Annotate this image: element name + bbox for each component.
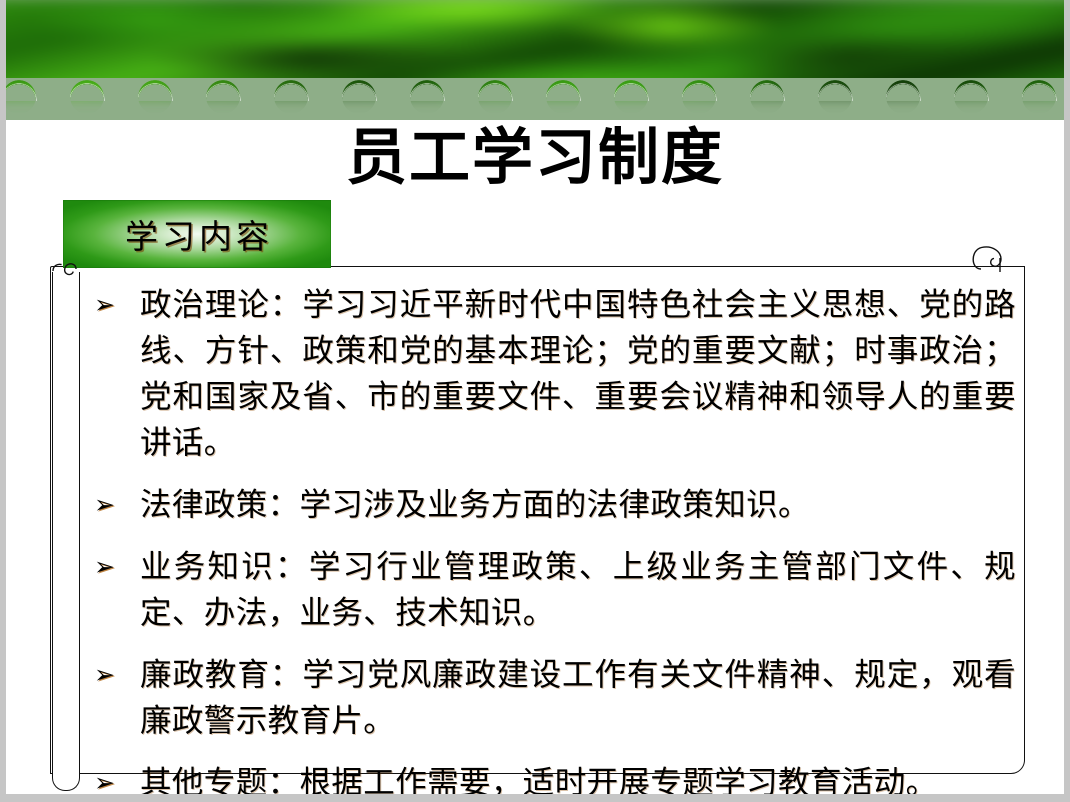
section-tab: 学习内容 — [63, 200, 331, 268]
slide-title: 员工学习制度 — [6, 121, 1064, 193]
list-item-text: 其他专题：根据工作需要，适时开展专题学习教育活动。 — [140, 760, 1016, 802]
scroll-roller-bar — [52, 272, 80, 791]
header-banner — [6, 0, 1064, 120]
list-item: ➢ 其他专题：根据工作需要，适时开展专题学习教育活动。 — [94, 760, 1016, 802]
bullet-list: ➢ 政治理论：学习习近平新时代中国特色社会主义思想、党的路线、方针、政策和党的基… — [94, 282, 1016, 802]
list-item: ➢ 业务知识：学习行业管理政策、上级业务主管部门文件、规定、办法，业务、技术知识… — [94, 544, 1016, 636]
arrow-bullet-icon: ➢ — [94, 760, 140, 802]
list-item-text: 业务知识：学习行业管理政策、上级业务主管部门文件、规定、办法，业务、技术知识。 — [140, 544, 1016, 636]
arrow-bullet-icon: ➢ — [94, 652, 140, 698]
arrow-bullet-icon: ➢ — [94, 482, 140, 528]
arrow-bullet-icon: ➢ — [94, 544, 140, 590]
list-item: ➢ 政治理论：学习习近平新时代中国特色社会主义思想、党的路线、方针、政策和党的基… — [94, 282, 1016, 466]
list-item: ➢ 廉政教育：学习党风廉政建设工作有关文件精神、规定，观看廉政警示教育片。 — [94, 652, 1016, 744]
list-item-text: 廉政教育：学习党风廉政建设工作有关文件精神、规定，观看廉政警示教育片。 — [140, 652, 1016, 744]
list-item-text: 法律政策：学习涉及业务方面的法律政策知识。 — [140, 482, 1016, 528]
section-tab-label: 学习内容 — [63, 200, 331, 268]
arrow-bullet-icon: ➢ — [94, 282, 140, 328]
list-item: ➢ 法律政策：学习涉及业务方面的法律政策知识。 — [94, 482, 1016, 528]
list-item-text: 政治理论：学习习近平新时代中国特色社会主义思想、党的路线、方针、政策和党的基本理… — [140, 282, 1016, 466]
presentation-slide: 员工学习制度 学习内容 ➢ 政治理论：学习习近平新时代中国特色社会主义思想、党的… — [0, 0, 1070, 802]
banner-scallop-highlight — [6, 77, 1064, 101]
